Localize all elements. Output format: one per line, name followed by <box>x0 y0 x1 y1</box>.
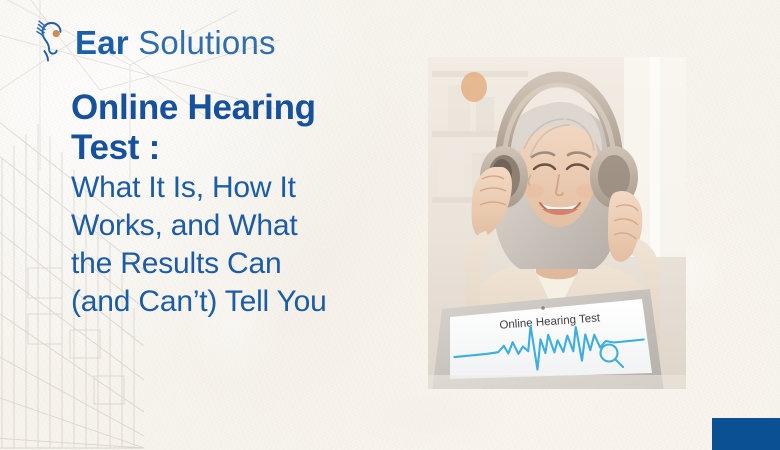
subhead-line-2: Works, and What <box>71 209 298 242</box>
hero-photo: Online Hearing Test <box>428 57 686 389</box>
brand-word-ear: Ear <box>75 24 129 61</box>
ear-outline-icon <box>33 18 73 66</box>
brand-word-solutions: Solutions <box>138 24 276 61</box>
subhead-line-4: (and Can’t) Tell You <box>71 285 327 318</box>
corner-accent-block <box>712 418 780 450</box>
hero-banner: Ear Solutions Online Hearing Test : What… <box>0 0 780 450</box>
hero-photo-illustration: Online Hearing Test <box>428 57 686 389</box>
page-subtitle: What It Is, How It Works, and What the R… <box>71 169 401 321</box>
subhead-line-1: What It Is, How It <box>71 171 296 204</box>
subhead-line-3: the Results Can <box>71 247 281 280</box>
headline-line-1: Online Hearing <box>71 88 316 127</box>
headline-block: Online Hearing Test : What It Is, How It… <box>71 88 401 321</box>
headline-line-2: Test : <box>71 128 160 167</box>
page-title: Online Hearing Test : <box>71 88 401 167</box>
brand-wordmark: Ear Solutions <box>75 26 276 59</box>
brand-logo[interactable]: Ear Solutions <box>33 16 276 68</box>
